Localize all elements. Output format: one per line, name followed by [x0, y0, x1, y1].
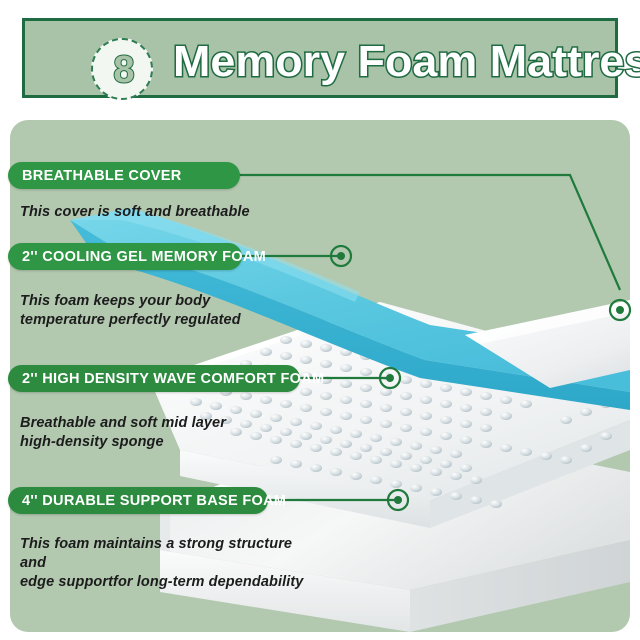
callout-desc-wave-comfort: Breathable and soft mid layer high-densi…: [20, 414, 310, 452]
callout-pill-base-foam[interactable]: 4'' DURABLE SUPPORT BASE FOAM: [8, 487, 268, 514]
callout-label-breathable-cover: BREATHABLE COVER: [22, 167, 182, 184]
callout-desc-breathable-cover: This cover is soft and breathable: [20, 203, 300, 222]
callout-label-base-foam: 4'' DURABLE SUPPORT BASE FOAM: [22, 492, 286, 509]
infographic-page: 8 Memory Foam Mattress: [0, 0, 640, 640]
callout-label-cooling-gel: 2'' COOLING GEL MEMORY FOAM: [22, 248, 266, 265]
step-badge: 8: [91, 38, 153, 100]
callout-pill-breathable-cover[interactable]: BREATHABLE COVER: [8, 162, 240, 189]
callout-desc-cooling-gel: This foam keeps your body temperature pe…: [20, 292, 310, 330]
step-badge-number: 8: [93, 40, 155, 102]
callout-pill-wave-comfort[interactable]: 2'' HIGH DENSITY WAVE COMFORT FOAM: [8, 365, 300, 392]
header-band: 8 Memory Foam Mattress: [22, 18, 618, 98]
page-title: Memory Foam Mattress: [173, 34, 640, 90]
callout-pill-cooling-gel[interactable]: 2'' COOLING GEL MEMORY FOAM: [8, 243, 242, 270]
callout-label-wave-comfort: 2'' HIGH DENSITY WAVE COMFORT FOAM: [22, 370, 324, 387]
callout-desc-base-foam: This foam maintains a strong structure a…: [20, 535, 320, 592]
